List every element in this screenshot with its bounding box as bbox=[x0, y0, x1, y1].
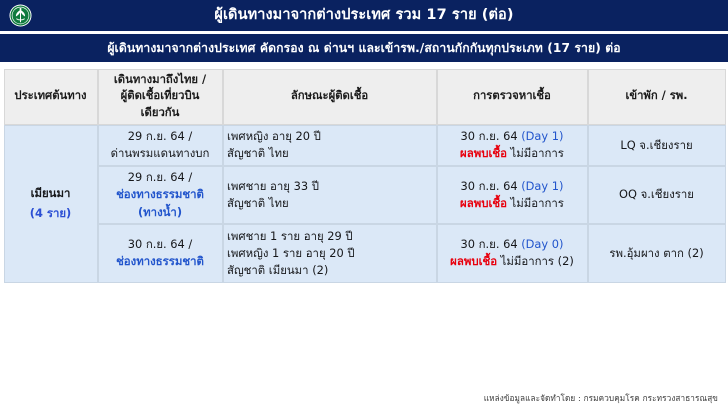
source-note: แหล่งข้อมูลและจัดทำโดย : กรมควบคุมโรค กร… bbox=[484, 392, 718, 405]
test-day-tag: (Day 1) bbox=[521, 179, 563, 193]
arrival-date: 30 ก.ย. 64 / bbox=[102, 236, 218, 253]
profile-line: เพศหญิง อายุ 20 ปี bbox=[227, 128, 432, 145]
column-header-arrival-line2: ผู้ติดเชื้อเที่ยวบินเดียวกัน bbox=[102, 88, 218, 121]
column-header-arrival-line1: เดินทางมาถึงไทย / bbox=[102, 72, 218, 88]
test-cell: 30 ก.ย. 64 (Day 1) ผลพบเชื้อ ไม่มีอาการ bbox=[437, 125, 588, 166]
main-title-bar: ผู้เดินทางมาจากต่างประเทศ รวม 17 ราย (ต่… bbox=[0, 0, 728, 31]
test-date-line: 30 ก.ย. 64 (Day 1) bbox=[441, 128, 583, 145]
test-symptom: ไม่มีอาการ (2) bbox=[501, 254, 574, 268]
stay-cell: OQ จ.เชียงราย bbox=[588, 166, 726, 224]
origin-country-cell: เมียนมา (4 ราย) bbox=[4, 125, 98, 283]
page-title: ผู้เดินทางมาจากต่างประเทศ รวม 17 ราย (ต่… bbox=[214, 8, 513, 23]
profile-cell: เพศชาย 1 ราย อายุ 29 ปี เพศหญิง 1 ราย อา… bbox=[223, 224, 437, 282]
ministry-emblem-icon bbox=[9, 4, 32, 27]
test-date-line: 30 ก.ย. 64 (Day 1) bbox=[441, 178, 583, 195]
origin-country-count: (4 ราย) bbox=[8, 205, 93, 222]
table-row: เมียนมา (4 ราย) 29 ก.ย. 64 / ด่านพรมแดนท… bbox=[4, 125, 726, 166]
arrival-channel: ช่องทางธรรมชาติ (ทางน้ำ) bbox=[102, 186, 218, 220]
test-result: ผลพบเชื้อ bbox=[460, 196, 507, 210]
profile-cell: เพศหญิง อายุ 20 ปี สัญชาติ ไทย bbox=[223, 125, 437, 166]
sub-title-bar: ผู้เดินทางมาจากต่างประเทศ คัดกรอง ณ ด่าน… bbox=[0, 34, 728, 62]
table-row: 30 ก.ย. 64 / ช่องทางธรรมชาติ เพศชาย 1 รา… bbox=[4, 224, 726, 282]
table-row: 29 ก.ย. 64 / ช่องทางธรรมชาติ (ทางน้ำ) เพ… bbox=[4, 166, 726, 224]
test-symptom: ไม่มีอาการ bbox=[511, 146, 564, 160]
test-symptom: ไม่มีอาการ bbox=[511, 196, 564, 210]
stay-cell: รพ.อุ้มผาง ตาก (2) bbox=[588, 224, 726, 282]
arrival-channel: ช่องทางธรรมชาติ bbox=[102, 253, 218, 270]
test-day-tag: (Day 0) bbox=[521, 237, 563, 251]
test-cell: 30 ก.ย. 64 (Day 0) ผลพบเชื้อ ไม่มีอาการ … bbox=[437, 224, 588, 282]
table-header-row: ประเทศต้นทาง เดินทางมาถึงไทย / ผู้ติดเชื… bbox=[4, 69, 726, 125]
profile-line: เพศหญิง 1 ราย อายุ 20 ปี bbox=[227, 245, 432, 262]
test-date: 30 ก.ย. 64 bbox=[461, 129, 518, 143]
column-header-stay: เข้าพัก / รพ. bbox=[588, 69, 726, 125]
column-header-arrival: เดินทางมาถึงไทย / ผู้ติดเชื้อเที่ยวบินเด… bbox=[98, 69, 223, 125]
arrival-cell: 29 ก.ย. 64 / ช่องทางธรรมชาติ (ทางน้ำ) bbox=[98, 166, 223, 224]
column-header-profile: ลักษณะผู้ติดเชื้อ bbox=[223, 69, 437, 125]
column-header-test: การตรวจหาเชื้อ bbox=[437, 69, 588, 125]
arrival-cell: 29 ก.ย. 64 / ด่านพรมแดนทางบก bbox=[98, 125, 223, 166]
international-arrivals-table: ประเทศต้นทาง เดินทางมาถึงไทย / ผู้ติดเชื… bbox=[3, 68, 726, 283]
arrival-date: 29 ก.ย. 64 / bbox=[102, 169, 218, 186]
test-date-line: 30 ก.ย. 64 (Day 0) bbox=[441, 236, 583, 253]
test-result: ผลพบเชื้อ bbox=[460, 146, 507, 160]
stay-cell: LQ จ.เชียงราย bbox=[588, 125, 726, 166]
test-day-tag: (Day 1) bbox=[521, 129, 563, 143]
arrival-date: 29 ก.ย. 64 / bbox=[102, 128, 218, 145]
test-result: ผลพบเชื้อ bbox=[450, 254, 497, 268]
test-result-line: ผลพบเชื้อ ไม่มีอาการ bbox=[441, 145, 583, 162]
origin-country-name: เมียนมา bbox=[8, 185, 93, 202]
column-header-origin: ประเทศต้นทาง bbox=[4, 69, 98, 125]
arrival-cell: 30 ก.ย. 64 / ช่องทางธรรมชาติ bbox=[98, 224, 223, 282]
profile-cell: เพศชาย อายุ 33 ปี สัญชาติ ไทย bbox=[223, 166, 437, 224]
test-result-line: ผลพบเชื้อ ไม่มีอาการ bbox=[441, 195, 583, 212]
test-cell: 30 ก.ย. 64 (Day 1) ผลพบเชื้อ ไม่มีอาการ bbox=[437, 166, 588, 224]
test-result-line: ผลพบเชื้อ ไม่มีอาการ (2) bbox=[441, 253, 583, 270]
sub-title: ผู้เดินทางมาจากต่างประเทศ คัดกรอง ณ ด่าน… bbox=[107, 42, 620, 54]
test-date: 30 ก.ย. 64 bbox=[461, 179, 518, 193]
profile-line: สัญชาติ ไทย bbox=[227, 145, 432, 162]
profile-line: สัญชาติ เมียนมา (2) bbox=[227, 262, 432, 279]
test-date: 30 ก.ย. 64 bbox=[461, 237, 518, 251]
profile-line: เพศชาย อายุ 33 ปี bbox=[227, 178, 432, 195]
arrival-channel: ด่านพรมแดนทางบก bbox=[102, 145, 218, 162]
profile-line: เพศชาย 1 ราย อายุ 29 ปี bbox=[227, 228, 432, 245]
profile-line: สัญชาติ ไทย bbox=[227, 195, 432, 212]
